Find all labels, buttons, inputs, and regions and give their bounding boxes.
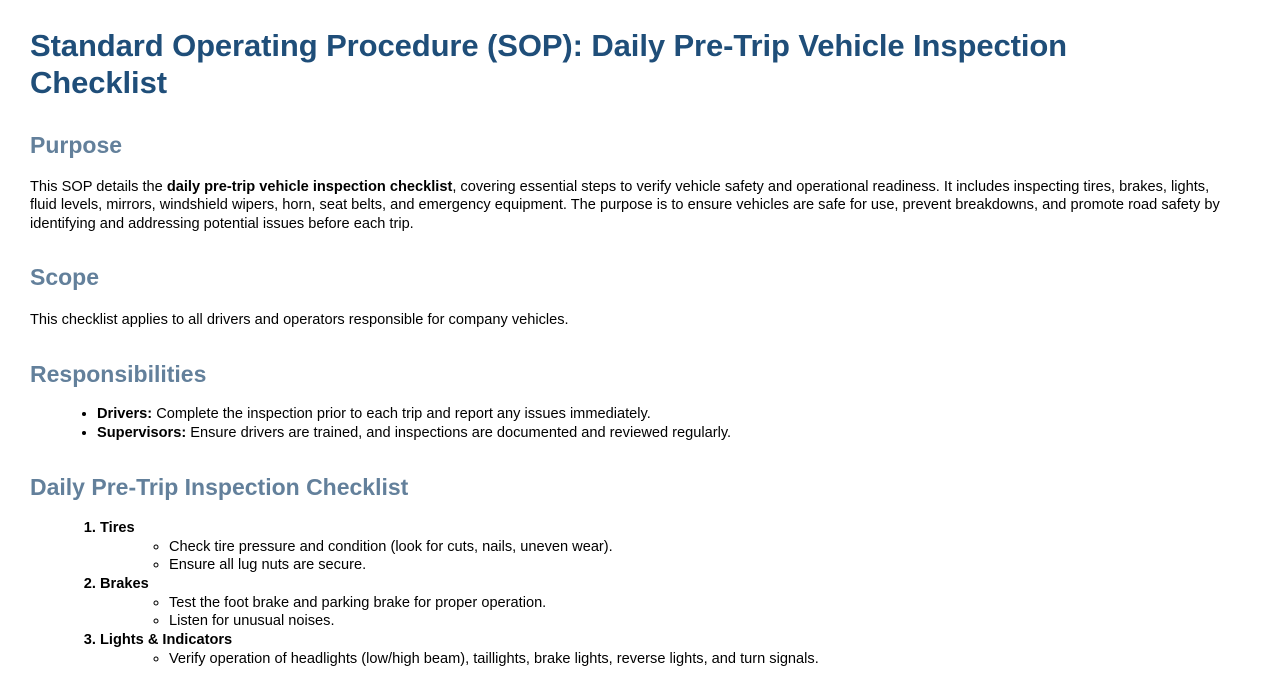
purpose-paragraph-emphasis: daily pre-trip vehicle inspection checkl…: [167, 179, 452, 195]
section-heading-purpose: Purpose: [30, 132, 1233, 160]
scope-paragraph: This checklist applies to all drivers an…: [30, 311, 1222, 330]
list-item: Check tire pressure and condition (look …: [169, 538, 1233, 557]
checklist-step: Lights & Indicators Verify operation of …: [100, 631, 1233, 669]
page-title: Standard Operating Procedure (SOP): Dail…: [30, 27, 1150, 101]
list-item: Drivers: Complete the inspection prior t…: [97, 405, 1233, 424]
checklist-step: Tires Check tire pressure and condition …: [100, 519, 1233, 575]
responsibility-role: Drivers:: [97, 406, 152, 422]
purpose-paragraph: This SOP details the daily pre-trip vehi…: [30, 178, 1222, 234]
responsibilities-list: Drivers: Complete the inspection prior t…: [30, 405, 1233, 443]
section-heading-checklist: Daily Pre-Trip Inspection Checklist: [30, 474, 1233, 502]
checklist-substep-list: Test the foot brake and parking brake fo…: [100, 594, 1233, 631]
checklist-substep-list: Check tire pressure and condition (look …: [100, 538, 1233, 575]
section-heading-responsibilities: Responsibilities: [30, 361, 1233, 389]
responsibility-text: Ensure drivers are trained, and inspecti…: [186, 425, 731, 441]
purpose-paragraph-lead: This SOP details the: [30, 179, 167, 195]
checklist-step-label: Lights & Indicators: [100, 632, 232, 648]
checklist-substep-list: Verify operation of headlights (low/high…: [100, 650, 1233, 669]
list-item: Test the foot brake and parking brake fo…: [169, 594, 1233, 613]
list-item: Ensure all lug nuts are secure.: [169, 556, 1233, 575]
list-item: Supervisors: Ensure drivers are trained,…: [97, 424, 1233, 443]
list-item: Listen for unusual noises.: [169, 612, 1233, 631]
list-item: Verify operation of headlights (low/high…: [169, 650, 1233, 669]
checklist-step: Brakes Test the foot brake and parking b…: [100, 575, 1233, 631]
checklist-step-label: Tires: [100, 520, 135, 536]
section-heading-scope: Scope: [30, 264, 1233, 292]
document-page: Standard Operating Procedure (SOP): Dail…: [0, 27, 1263, 668]
responsibility-text: Complete the inspection prior to each tr…: [152, 406, 651, 422]
inspection-checklist: Tires Check tire pressure and condition …: [30, 519, 1233, 669]
checklist-step-label: Brakes: [100, 576, 149, 592]
responsibility-role: Supervisors:: [97, 425, 186, 441]
